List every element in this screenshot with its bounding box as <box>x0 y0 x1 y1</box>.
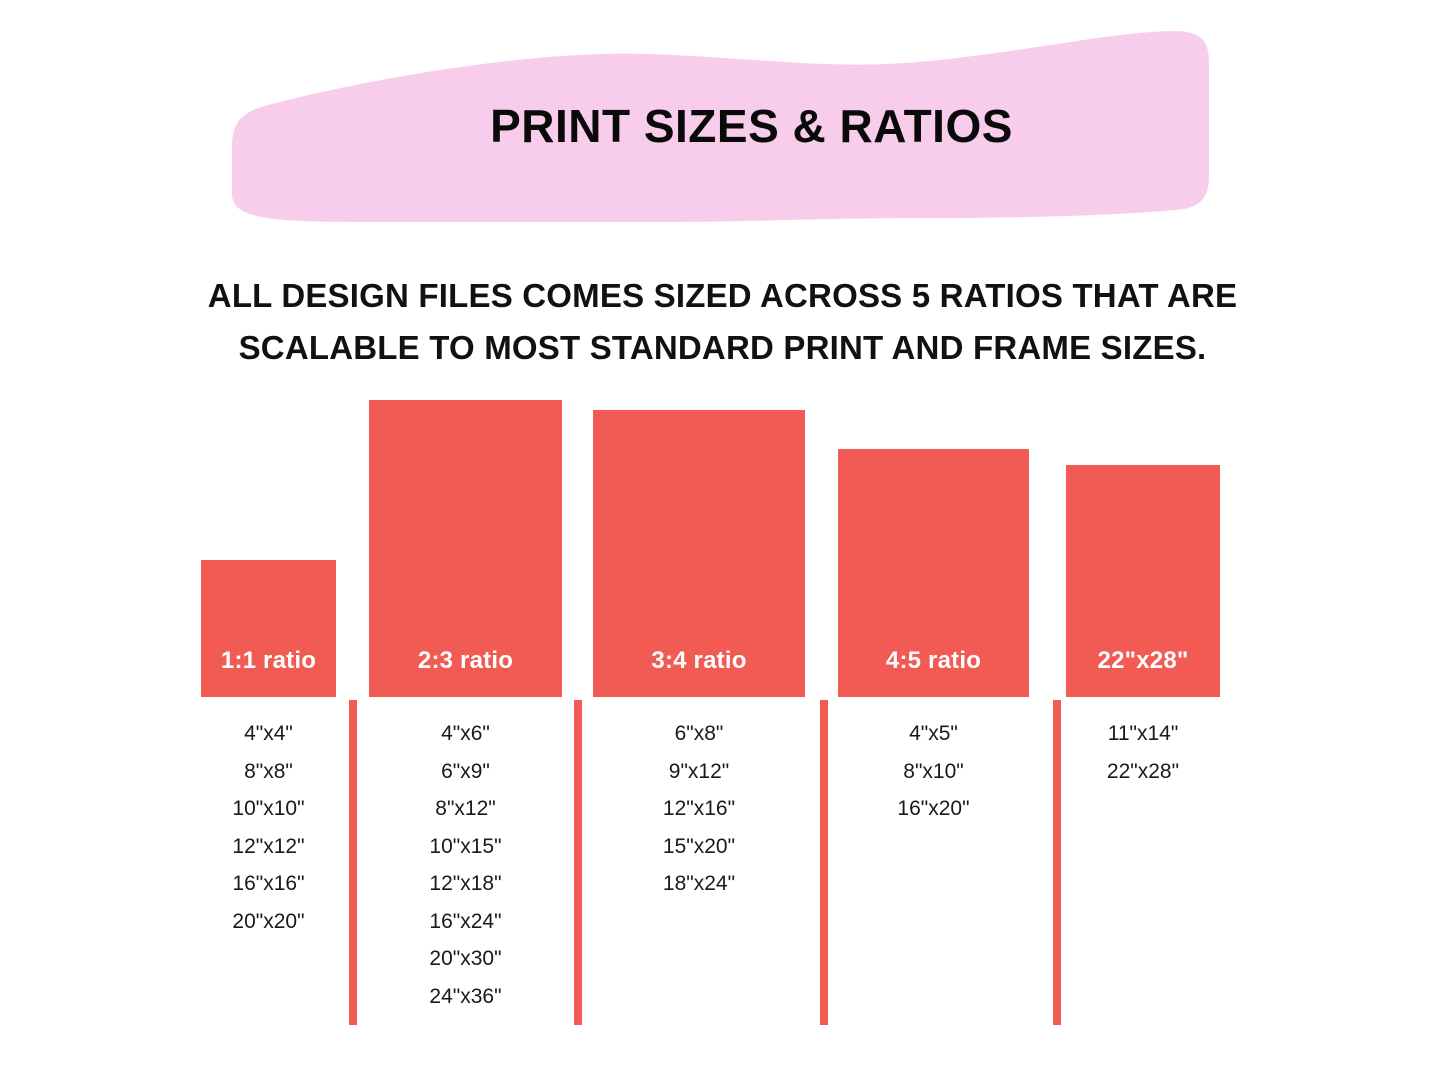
size-item: 20"x30" <box>336 940 596 978</box>
size-item: 16"x20" <box>804 790 1064 828</box>
ratio-bar-chart: 1:1 ratio 2:3 ratio 3:4 ratio 4:5 ratio … <box>0 0 1445 1084</box>
bar-ratio-22x28: 22"x28" <box>1066 465 1220 697</box>
size-item: 24"x36" <box>336 978 596 1016</box>
size-item: 6"x8" <box>569 715 829 753</box>
bar-ratio-2-3: 2:3 ratio <box>369 400 562 697</box>
size-item: 11"x14" <box>1013 715 1273 753</box>
size-item: 9"x12" <box>569 753 829 791</box>
size-list-ratio-3-4: 6"x8"9"x12"12"x16"15"x20"18"x24" <box>569 715 829 903</box>
infographic-canvas: PRINT SIZES & RATIOS ALL DESIGN FILES CO… <box>0 0 1445 1084</box>
size-list-ratio-22x28: 11"x14"22"x28" <box>1013 715 1273 790</box>
size-item: 12"x16" <box>569 790 829 828</box>
size-item: 8"x12" <box>336 790 596 828</box>
size-item: 12"x18" <box>336 865 596 903</box>
size-item: 22"x28" <box>1013 753 1273 791</box>
size-list-ratio-2-3: 4"x6"6"x9"8"x12"10"x15"12"x18"16"x24"20"… <box>336 715 596 1015</box>
bar-ratio-1-1: 1:1 ratio <box>201 560 336 697</box>
size-item: 15"x20" <box>569 828 829 866</box>
size-item: 16"x24" <box>336 903 596 941</box>
bar-ratio-3-4: 3:4 ratio <box>593 410 805 697</box>
size-item: 18"x24" <box>569 865 829 903</box>
size-item: 4"x6" <box>336 715 596 753</box>
bar-label-ratio-3-4: 3:4 ratio <box>593 647 805 675</box>
bar-label-ratio-4-5: 4:5 ratio <box>838 647 1029 675</box>
size-item: 6"x9" <box>336 753 596 791</box>
bar-label-ratio-1-1: 1:1 ratio <box>201 647 336 675</box>
bar-label-ratio-22x28: 22"x28" <box>1066 647 1220 675</box>
bar-label-ratio-2-3: 2:3 ratio <box>369 647 562 675</box>
bar-ratio-4-5: 4:5 ratio <box>838 449 1029 697</box>
size-item: 10"x15" <box>336 828 596 866</box>
